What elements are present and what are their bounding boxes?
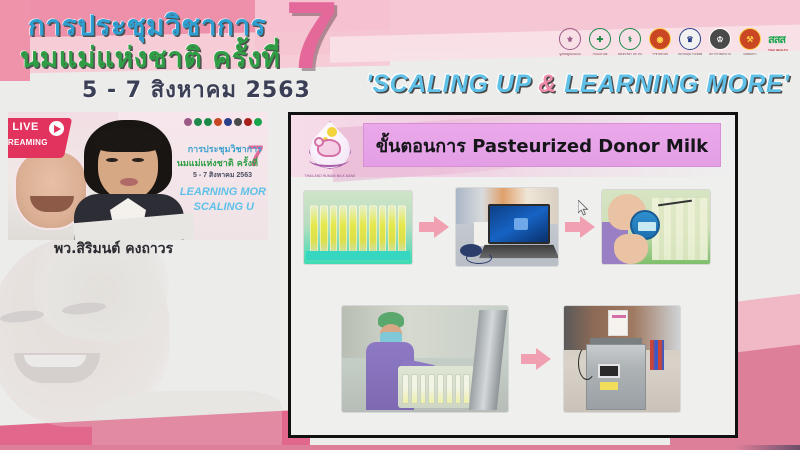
thermometer-check-photo (601, 189, 711, 265)
medical-council-logo: ⚒แพทยสภา (738, 28, 762, 54)
department-health-logo: ⚕MINISTRY OF PUBLIC HEALTH (618, 28, 642, 54)
slogan-part-1: 'SCALING UP (366, 70, 538, 98)
slide-title-text: ขั้นตอนการ Pasteurized Donor Milk (376, 131, 708, 160)
poster-logo-row (184, 118, 262, 126)
speaker-video-figure (76, 120, 180, 240)
thai-pediatric-logo: ♛สมาคมกุมารแพทย์ (678, 28, 702, 54)
poster-slogan-line2: SCALING U (194, 201, 255, 213)
poster-title-line1: การประชุมวิชาการ (188, 142, 262, 156)
live-video-thumbnail[interactable]: 7 การประชุมวิชาการ นมแม่แห่งชาติ ครั้งที… (8, 112, 268, 240)
poster-date: 5 - 7 สิงหาคม 2563 (193, 170, 252, 181)
royal-patronage-logo: ⚜มูลนิธิศูนย์นมแม่ (558, 28, 582, 54)
poster-title-line2: นมแม่แห่งชาติ ครั้งที่ (177, 156, 258, 170)
ministry-public-health-logo: ✚กรมอนามัย (588, 28, 612, 54)
poster-slogan-line1: LEARNING MOR (180, 186, 266, 198)
royal-college-logo: ◉ราชวิทยาลัย (648, 28, 672, 54)
slogan-ampersand: & (538, 70, 557, 98)
human-milk-bank-logo: THAILAND HUMAN MILK BANK (301, 119, 359, 177)
process-arrow-right (565, 216, 595, 238)
background-bottom-strip (0, 445, 800, 450)
play-icon (49, 121, 64, 136)
nursing-council-logo: ♔สภาการพยาบาล (708, 28, 732, 54)
laptop-monitoring-photo (455, 187, 559, 267)
process-row-1 (303, 187, 711, 267)
presentation-slide-panel: THAILAND HUMAN MILK BANK ขั้นตอนการ Past… (288, 112, 738, 438)
milk-bottle-racks-photo (303, 190, 413, 265)
sponsor-logo-strip: ⚜มูลนิธิศูนย์นมแม่ ✚กรมอนามัย ⚕MINISTRY … (558, 28, 788, 54)
logo-caption: THAILAND HUMAN MILK BANK (298, 174, 362, 178)
conference-edition-number: 7 (285, 0, 338, 84)
process-row-2 (341, 305, 681, 413)
pasteurizer-machine-photo (563, 305, 681, 413)
slide-title-bar: ขั้นตอนการ Pasteurized Donor Milk (363, 123, 721, 167)
conference-date: 5 - 7 สิงหาคม 2563 (82, 72, 311, 107)
streaming-badge-label: STREAMING (8, 138, 48, 147)
conference-slogan: 'SCALING UP & LEARNING MORE' (366, 70, 790, 99)
nurse-loading-bottles-photo (341, 305, 509, 413)
speaker-name-label: พว.สิริมนต์ คงถาวร (54, 238, 173, 260)
live-badge-label: LIVE (12, 121, 38, 133)
thaihealth-logo: สสสTHAI HEALTH (768, 30, 788, 52)
slide-content: THAILAND HUMAN MILK BANK ขั้นตอนการ Past… (291, 115, 735, 435)
slogan-part-2: LEARNING MORE' (557, 70, 790, 98)
live-streaming-badge: LIVE STREAMING (8, 118, 72, 158)
process-arrow-right (419, 216, 449, 238)
slide-capture-stage: การประชุมวิชาการ นมแม่แห่งชาติ ครั้งที่ … (0, 0, 800, 450)
process-arrow-right (521, 348, 551, 370)
